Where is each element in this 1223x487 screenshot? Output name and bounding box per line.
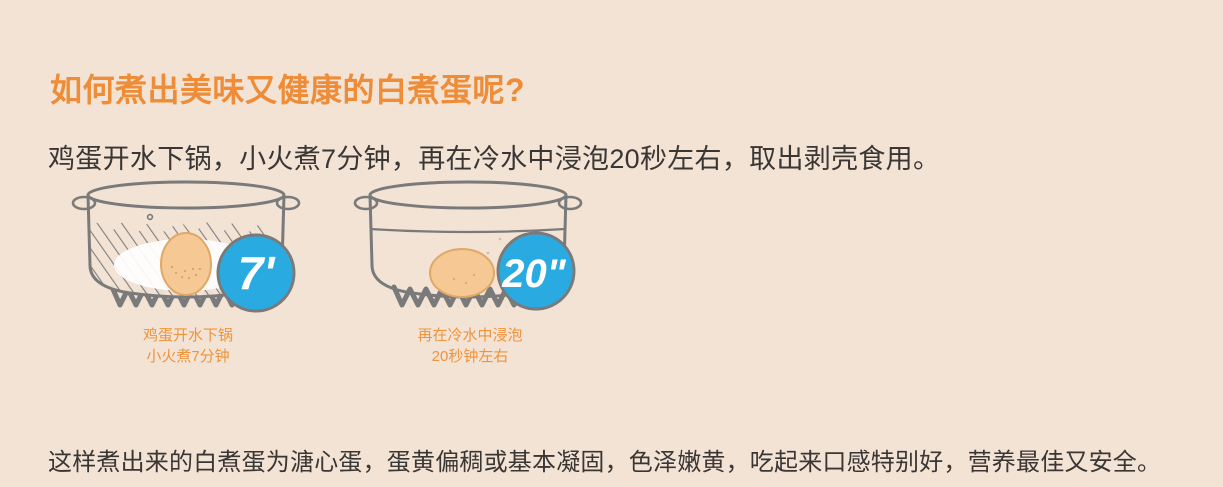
timer-badge-icon: 7' [218,235,294,311]
infographic-page: 如何煮出美味又健康的白煮蛋呢? 鸡蛋开水下锅，小火煮7分钟，再在冷水中浸泡20秒… [0,0,1223,487]
caption-line-2: 小火煮7分钟 [68,346,308,367]
outro-paragraph: 这样煮出来的白煮蛋为溏心蛋，蛋黄偏稠或基本凝固，色泽嫩黄，吃起来口感特别好，营养… [48,442,1161,477]
timer-badge-icon: 20" [498,233,574,309]
badge-label: 20" [501,252,566,296]
step-boil-caption: 鸡蛋开水下锅 小火煮7分钟 [68,325,308,367]
step-cool-caption: 再在冷水中浸泡 20秒钟左右 [350,325,590,367]
step-cool-illustration: 20" [350,165,590,315]
caption-line-1: 鸡蛋开水下锅 [68,325,308,346]
steps-container: 7' 鸡蛋开水下锅 小火煮7分钟 [60,165,620,390]
badge-label: 7' [238,247,277,299]
caption-line-2: 20秒钟左右 [350,346,590,367]
page-title: 如何煮出美味又健康的白煮蛋呢? [50,65,525,111]
caption-line-1: 再在冷水中浸泡 [350,325,590,346]
step-boil-illustration: 7' [68,165,308,315]
step-boil: 7' 鸡蛋开水下锅 小火煮7分钟 [68,165,308,390]
step-cool: 20" 再在冷水中浸泡 20秒钟左右 [350,165,590,390]
egg-icon [430,249,494,297]
